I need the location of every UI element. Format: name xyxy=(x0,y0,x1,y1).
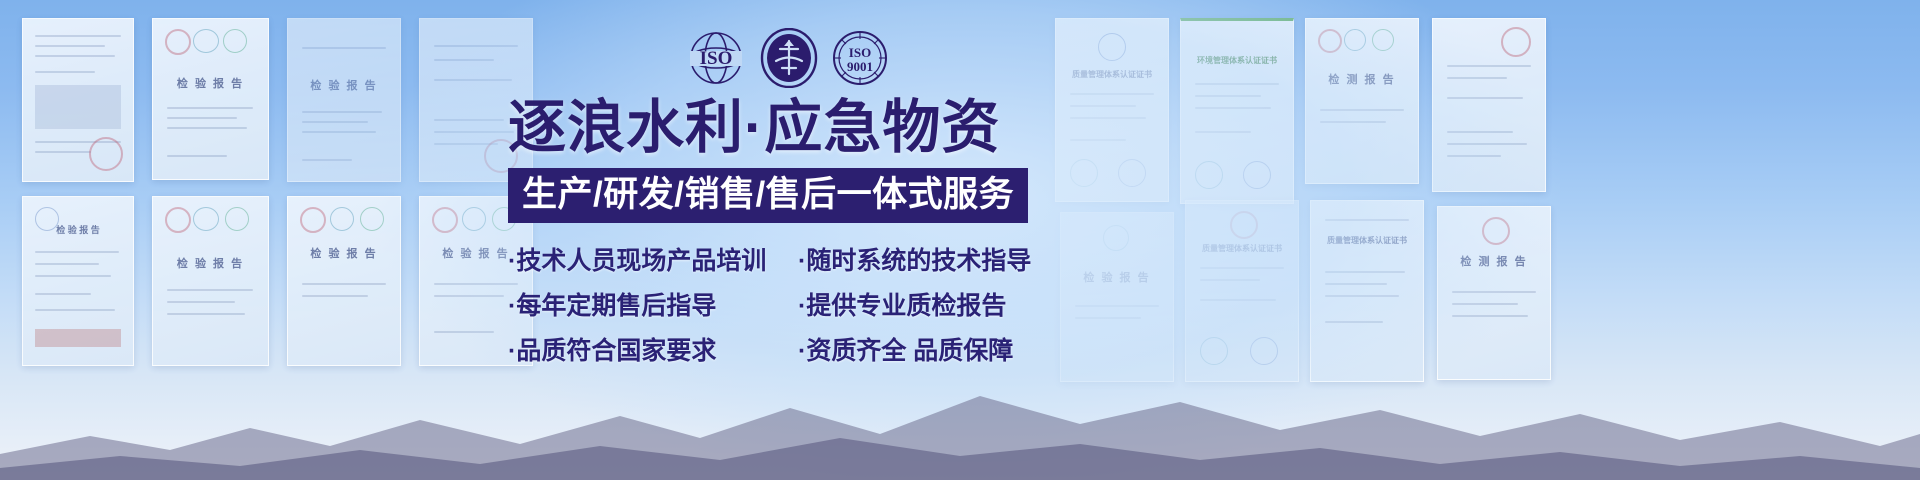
feature-item: ·品质符合国家要求 xyxy=(508,337,798,365)
certificate-thumbnail: 检 验 报 告 xyxy=(287,18,401,182)
feature-row: ·每年定期售后指导 ·提供专业质检报告 xyxy=(508,292,1068,320)
iso-globe-badge: ISO xyxy=(688,30,744,91)
svg-text:9001: 9001 xyxy=(847,59,873,74)
feature-item: ·技术人员现场产品培训 xyxy=(508,247,798,275)
certificate-thumbnail: 检 验 报 告 xyxy=(22,196,134,366)
certificate-thumbnail: 环境管理体系认证证书 xyxy=(1180,18,1294,204)
page-title: 逐浪水利·应急物资 xyxy=(508,96,1068,160)
certificate-thumbnail: 质量管理体系认证证书 xyxy=(1055,18,1169,202)
iso-globe-label: ISO xyxy=(700,48,733,69)
feature-item: ·每年定期售后指导 xyxy=(508,292,798,320)
certificate-thumbnail xyxy=(22,18,134,182)
feature-list: ·技术人员现场产品培训 ·随时系统的技术指导 ·每年定期售后指导 ·提供专业质检… xyxy=(508,247,1068,365)
certificate-thumbnail xyxy=(1432,18,1546,192)
feature-row: ·技术人员现场产品培训 ·随时系统的技术指导 xyxy=(508,247,1068,275)
banner-text-block: 逐浪水利·应急物资 生产/研发/销售/售后一体式服务 ·技术人员现场产品培训 ·… xyxy=(508,96,1068,382)
certificate-thumbnail: 检 测 报 告 xyxy=(1305,18,1419,184)
promotional-banner: 检 验 报 告 检 验 报 告 检 验 报 告 检 验 报 xyxy=(0,0,1920,480)
feature-item: ·随时系统的技术指导 xyxy=(798,247,1068,275)
feature-item: ·资质齐全 品质保障 xyxy=(798,337,1068,365)
certificate-thumbnail: 检 验 报 告 xyxy=(152,196,269,366)
certificate-thumbnail: 检 验 报 告 xyxy=(287,196,401,366)
certification-badges: ISO xyxy=(688,30,888,92)
subtitle-bar: 生产/研发/销售/售后一体式服务 xyxy=(508,168,1028,223)
iso-9001-badge: ISO 9001 xyxy=(832,30,888,91)
quality-seal-badge xyxy=(760,28,818,93)
svg-text:ISO: ISO xyxy=(849,45,871,60)
certificate-thumbnail: 检 验 报 告 xyxy=(152,18,269,180)
subtitle-text: 生产/研发/销售/售后一体式服务 xyxy=(522,175,1014,214)
feature-row: ·品质符合国家要求 ·资质齐全 品质保障 xyxy=(508,337,1068,365)
feature-item: ·提供专业质检报告 xyxy=(798,292,1068,320)
